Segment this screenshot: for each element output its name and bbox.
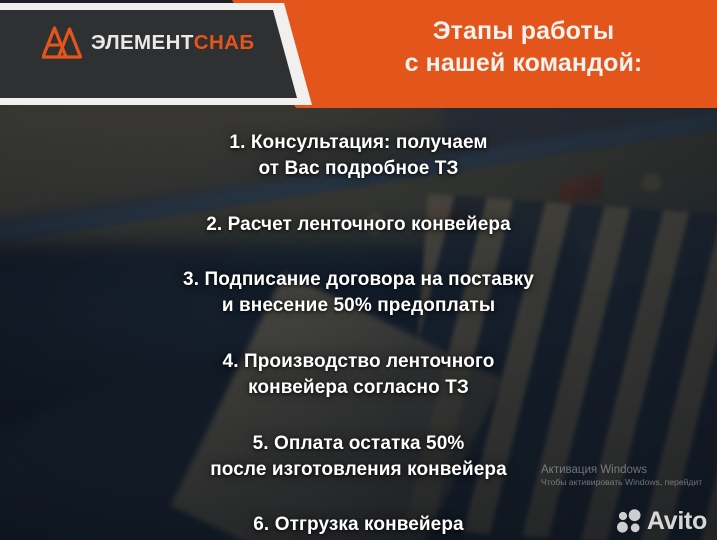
avito-dots-icon: [617, 509, 642, 534]
advertisement-banner: ЭЛЕМЕНТСНАБ Этапы работы с нашей командо…: [0, 0, 717, 540]
header-title: Этапы работы с нашей командой:: [330, 16, 717, 79]
step-item-4: 4. Производство ленточного конвейера сог…: [0, 349, 717, 401]
step-1-line-1: 1. Консультация: получаем: [70, 130, 647, 156]
step-item-3: 3. Подписание договора на поставку и вне…: [0, 267, 717, 319]
header-title-line-2: с нашей командой:: [330, 48, 717, 80]
step-4-line-1: 4. Производство ленточного: [70, 349, 647, 375]
step-3-line-2: и внесение 50% предоплаты: [70, 293, 647, 319]
avito-wordmark: Avito: [647, 509, 707, 534]
header-title-line-1: Этапы работы: [330, 16, 717, 48]
step-4-line-2: конвейера согласно ТЗ: [70, 375, 647, 401]
step-item-6: 6. Отгрузка конвейера: [0, 512, 717, 538]
brand-word-element: ЭЛЕМЕНТ: [91, 31, 194, 54]
step-item-1: 1. Консультация: получаем от Вас подробн…: [0, 130, 717, 182]
banner-header: ЭЛЕМЕНТСНАБ Этапы работы с нашей командо…: [0, 0, 717, 108]
brand-word-snab: СНАБ: [194, 31, 255, 54]
brand-logo[interactable]: ЭЛЕМЕНТСНАБ: [42, 26, 255, 60]
windows-activation-subtitle: Чтобы активировать Windows, перейдит: [541, 477, 709, 488]
windows-activation-watermark: Активация Windows Чтобы активировать Win…: [541, 463, 709, 488]
step-5-line-1: 5. Оплата остатка 50%: [70, 431, 647, 457]
avito-watermark: Avito: [617, 509, 707, 534]
step-2-line-1: 2. Расчет ленточного конвейера: [70, 212, 647, 238]
brand-logo-wordmark: ЭЛЕМЕНТСНАБ: [91, 33, 255, 54]
step-item-2: 2. Расчет ленточного конвейера: [0, 212, 717, 238]
step-1-line-2: от Вас подробное ТЗ: [70, 156, 647, 182]
elementsnab-triangles-logo-icon: [42, 26, 82, 60]
step-3-line-1: 3. Подписание договора на поставку: [70, 267, 647, 293]
windows-activation-title: Активация Windows: [541, 463, 709, 477]
step-6-line-1: 6. Отгрузка конвейера: [70, 512, 647, 538]
